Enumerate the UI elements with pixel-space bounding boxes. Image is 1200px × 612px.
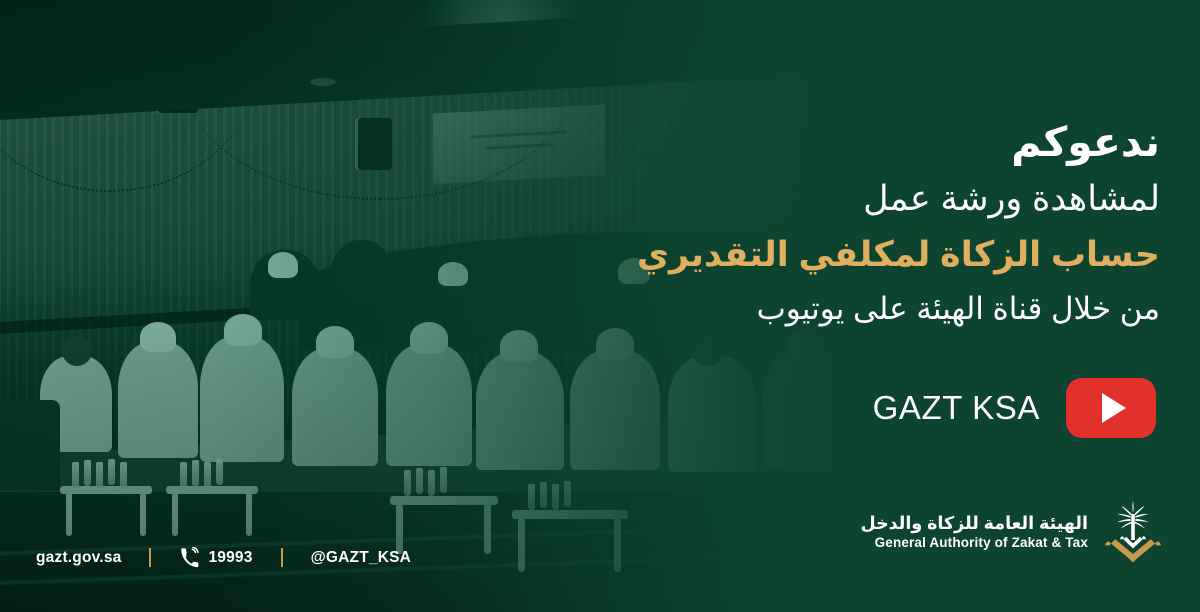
youtube-channel-name: GAZT KSA <box>873 389 1040 427</box>
footer-phone[interactable]: 19993 <box>179 547 252 568</box>
headline-block: ندعوكم لمشاهدة ورشة عمل حساب الزكاة لمكل… <box>460 118 1160 328</box>
poster-canvas: ندعوكم لمشاهدة ورشة عمل حساب الزكاة لمكل… <box>0 0 1200 612</box>
headline-line-1: ندعوكم <box>460 118 1160 166</box>
footer-social-label: @GAZT_KSA <box>311 549 411 567</box>
gazt-name-english: General Authority of Zakat & Tax <box>860 535 1088 552</box>
footer-phone-number: 19993 <box>208 549 252 567</box>
footer-website[interactable]: gazt.gov.sa <box>36 549 121 567</box>
youtube-play-icon[interactable] <box>1066 378 1156 438</box>
youtube-channel-row[interactable]: GAZT KSA <box>873 378 1156 438</box>
footer-website-label: gazt.gov.sa <box>36 549 121 567</box>
footer-social-handle[interactable]: @GAZT_KSA <box>311 549 411 567</box>
footer-separator <box>281 548 283 567</box>
saudi-palm-and-swords-emblem <box>1102 496 1164 568</box>
footer-separator <box>149 548 151 567</box>
headline-line-3-workshop-title: حساب الزكاة لمكلفي التقديري <box>460 234 1160 275</box>
gazt-name-arabic: الهيئة العامة للزكاة والدخل <box>860 513 1088 535</box>
gazt-logo-lockup: الهيئة العامة للزكاة والدخل General Auth… <box>860 496 1164 568</box>
gazt-logo-text: الهيئة العامة للزكاة والدخل General Auth… <box>860 513 1088 552</box>
footer-contact-bar: gazt.gov.sa 19993 @GAZT_KSA <box>36 547 411 568</box>
headline-line-4: من خلال قناة الهيئة على يوتيوب <box>460 291 1160 328</box>
phone-ringing-icon <box>179 547 200 568</box>
play-triangle-icon <box>1102 393 1126 423</box>
headline-line-2: لمشاهدة ورشة عمل <box>460 178 1160 219</box>
